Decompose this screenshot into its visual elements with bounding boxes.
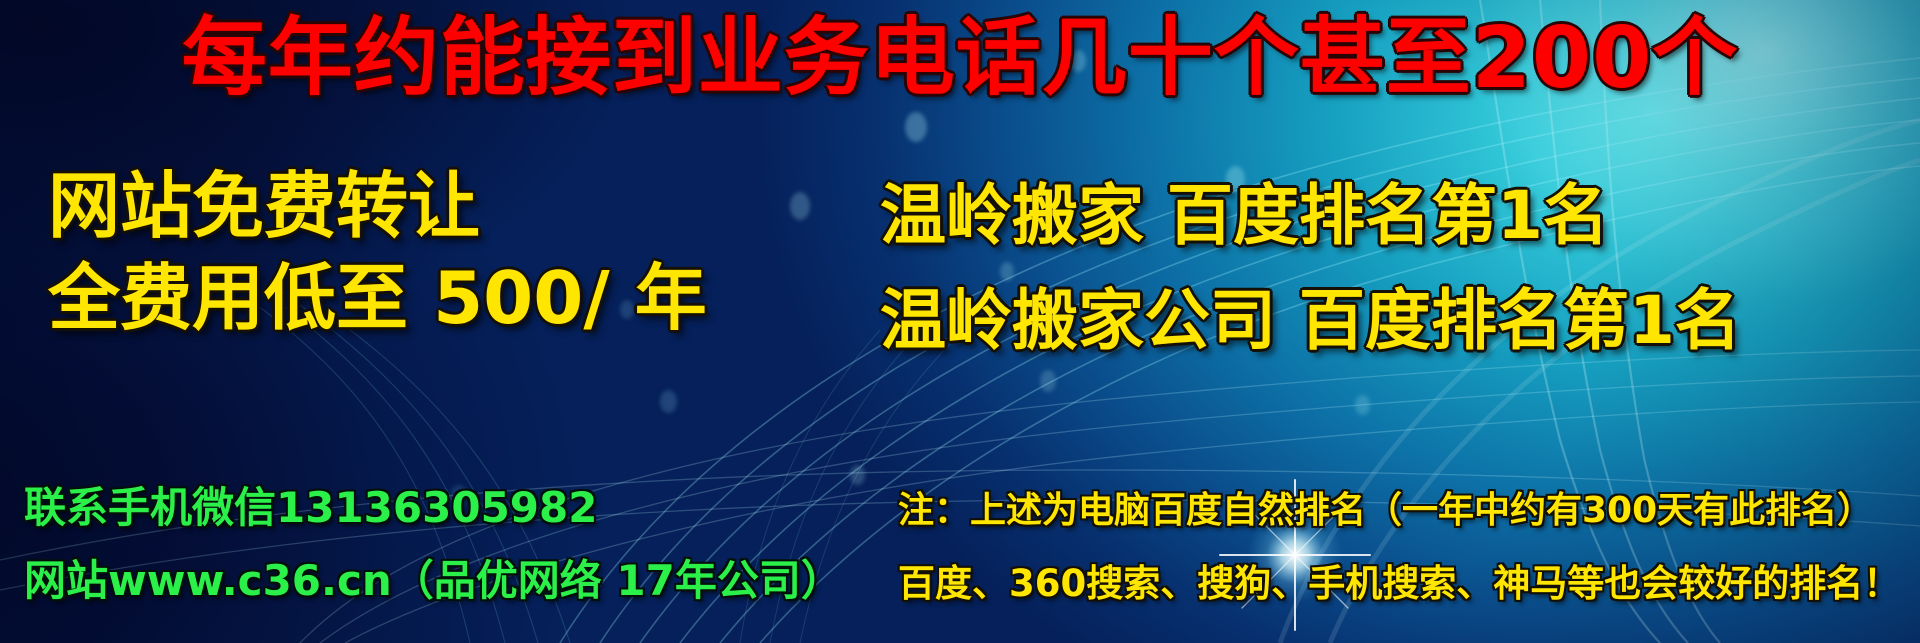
- headline-text: 每年约能接到业务电话几十个甚至200个: [0, 16, 1920, 101]
- note-line-2: 百度、360搜索、搜狗、手机搜索、神马等也会较好的排名！: [898, 565, 1900, 602]
- offer-line-1: 网站免费转让: [48, 170, 480, 242]
- advertisement-banner: 每年约能接到业务电话几十个甚至200个 网站免费转让 全费用低至 500/ 年 …: [0, 0, 1920, 643]
- ranking-line-2: 温岭搬家公司 百度排名第1名: [880, 288, 1741, 354]
- contact-phone-line: 联系手机微信13136305982: [24, 487, 597, 529]
- note-line-1: 注：上述为电脑百度自然排名（一年中约有300天有此排名）: [898, 493, 1873, 529]
- ranking-line-1: 温岭搬家 百度排名第1名: [880, 183, 1609, 249]
- offer-line-2: 全费用低至 500/ 年: [48, 262, 707, 334]
- contact-website-line: 网站www.c36.cn（品优网络 17年公司）: [24, 560, 843, 602]
